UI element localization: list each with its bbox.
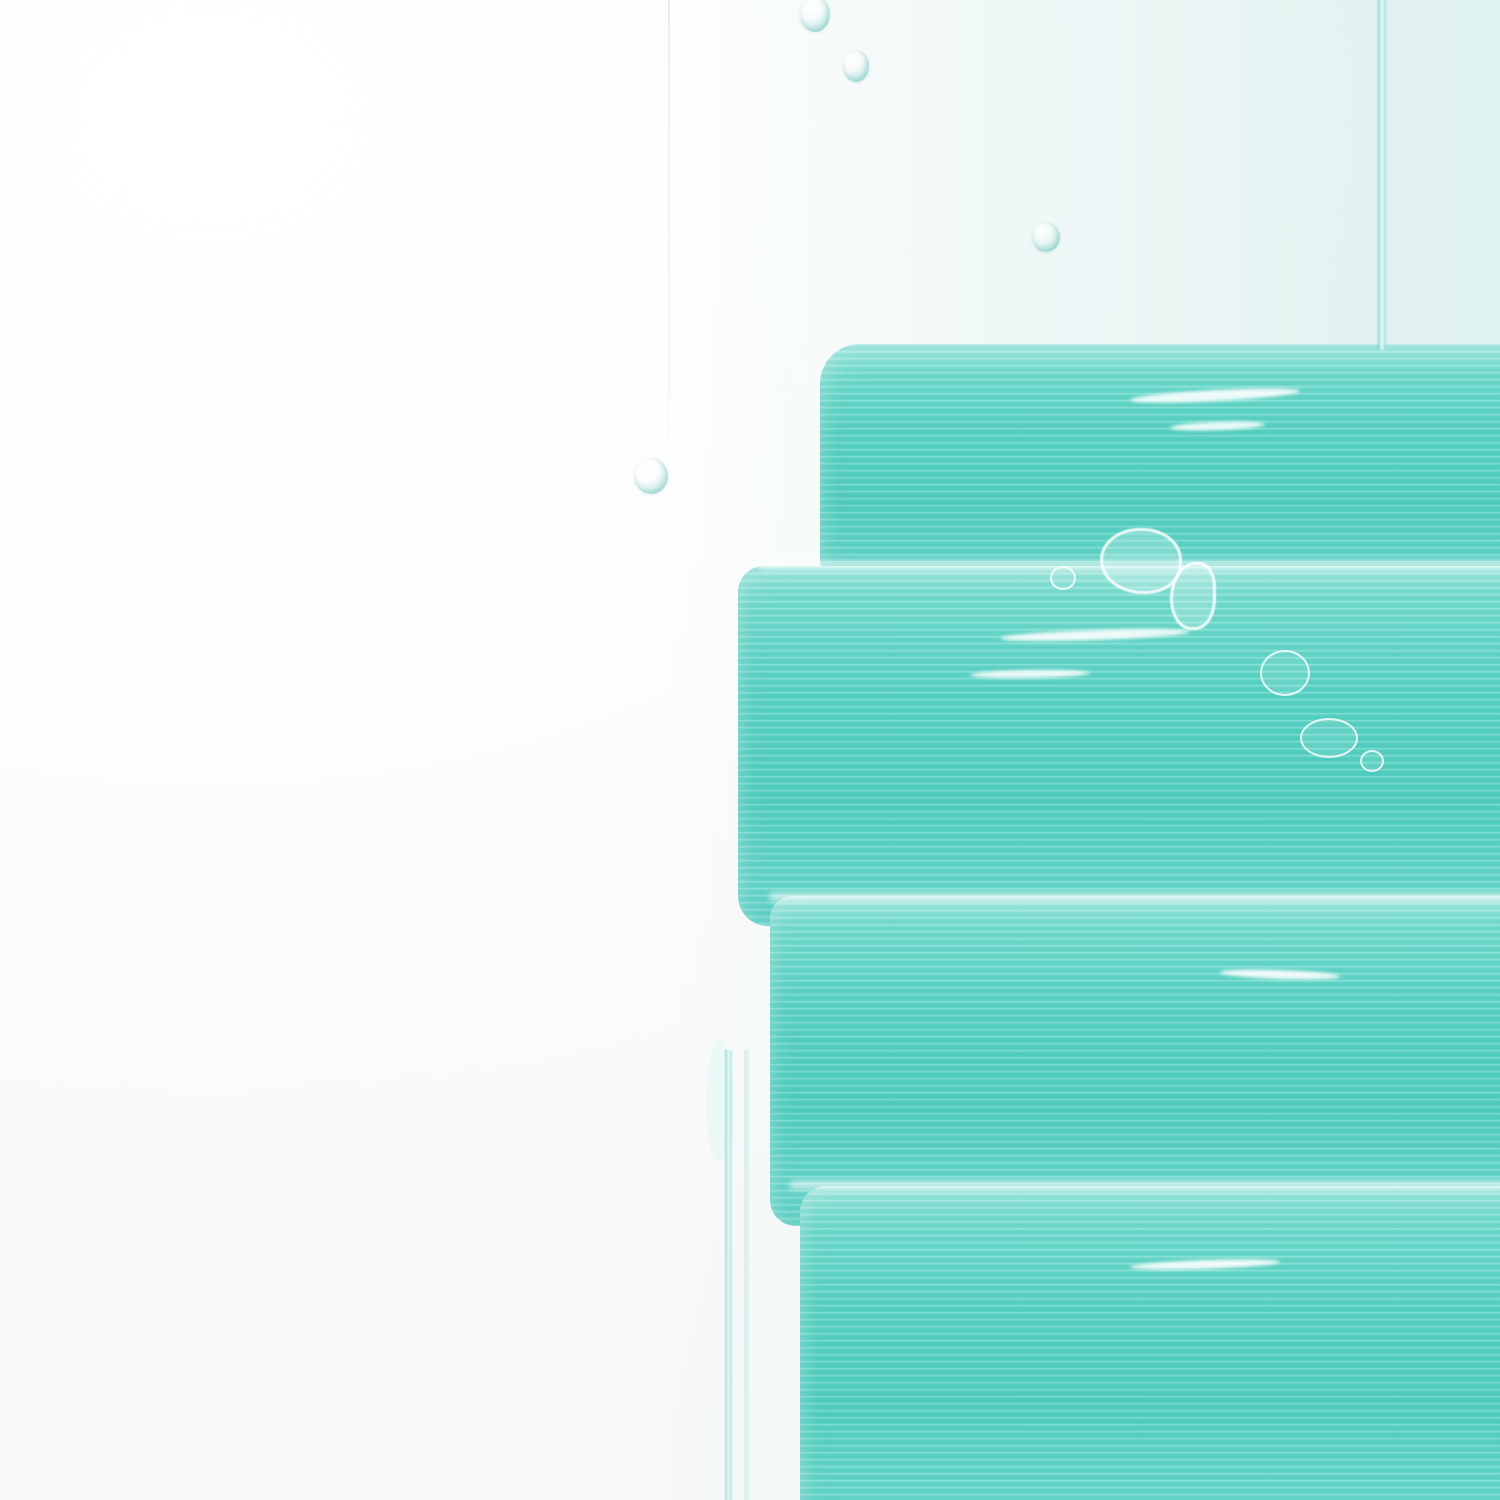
gel-layer-4 xyxy=(800,1186,1500,1500)
gel-bubble xyxy=(1360,750,1384,772)
gel-bubble xyxy=(1260,650,1310,696)
gel-seam-c xyxy=(790,1178,1500,1192)
gel-bubble xyxy=(1050,566,1076,590)
gel-layer-2 xyxy=(738,566,1500,926)
gel-gloss-blob xyxy=(1100,528,1182,594)
product-infographic: Holy Grail for a Smooth, Moisture Plumpi… xyxy=(0,0,1500,1500)
gel-drip-strand-left-thin xyxy=(744,1050,749,1500)
water-droplet xyxy=(1032,222,1060,252)
gel-layer-3 xyxy=(770,896,1500,1226)
water-droplet xyxy=(634,458,668,494)
gel-gloss-blob xyxy=(1170,562,1216,630)
gel-drip-strand-top xyxy=(1376,0,1388,350)
gel-drip-strand-left xyxy=(724,1050,733,1500)
background-seam xyxy=(668,0,670,540)
gel-texture-photo xyxy=(700,330,1500,1500)
gel-seam-b xyxy=(770,890,1500,904)
water-droplet xyxy=(843,50,869,82)
gel-bubble xyxy=(1300,718,1358,758)
